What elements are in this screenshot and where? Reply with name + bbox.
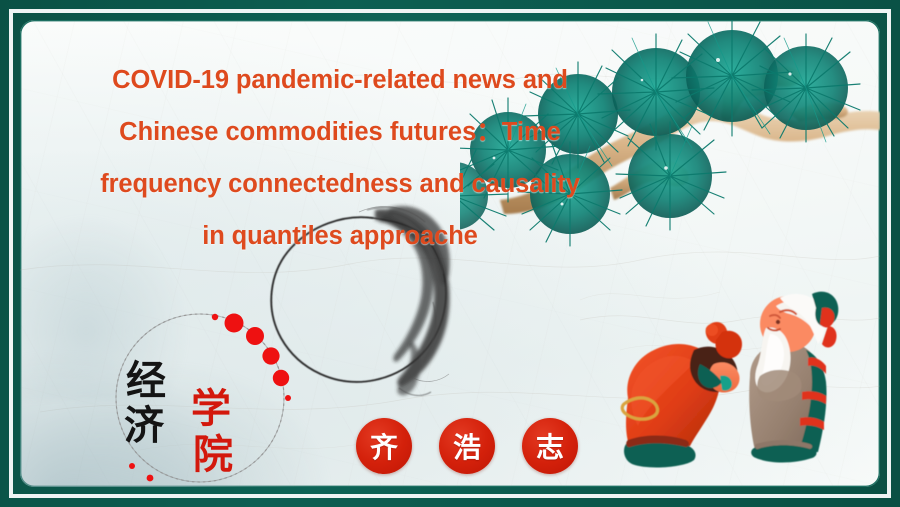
title-line-4: in quantiles approache — [20, 210, 660, 262]
title-line-1: COVID-19 pandemic-related news and — [20, 54, 660, 106]
author-name-seals: 齐 浩 志 — [356, 418, 578, 474]
author-seal: 齐 — [356, 418, 412, 474]
title-line-3: frequency connectedness and causality — [20, 158, 660, 210]
bowing-student-and-elder-icon — [584, 272, 864, 487]
title-line-2: Chinese commodities futures：Time — [20, 106, 660, 158]
logo-char-yuan: 院 — [193, 422, 233, 480]
slide-canvas: 经 济 学 院 齐 浩 志 — [20, 20, 880, 487]
author-seal: 志 — [522, 418, 578, 474]
author-seal: 浩 — [439, 418, 495, 474]
slide-title: COVID-19 pandemic-related news and Chine… — [20, 54, 660, 262]
school-logo: 经 济 学 院 — [98, 298, 302, 487]
presentation-slide: 经 济 学 院 齐 浩 志 — [0, 0, 900, 507]
logo-char-ji: 济 — [124, 393, 164, 451]
